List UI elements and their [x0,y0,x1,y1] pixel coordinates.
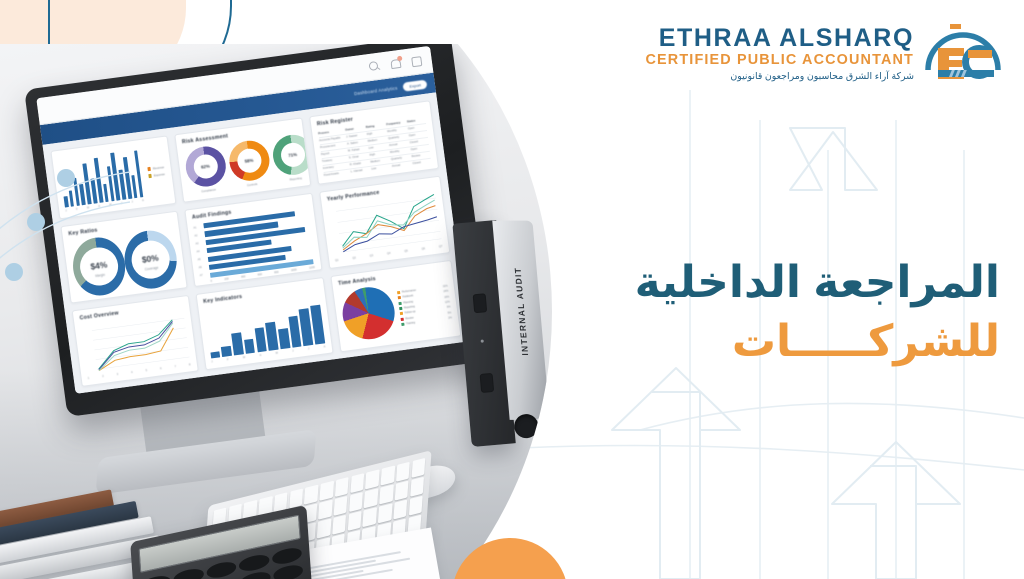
legend-swatch [398,301,401,304]
pie-chart [339,284,397,342]
donut-caption: Reporting [290,176,303,182]
card-key-indicators: Key Indicators JFMA MJJA [195,276,333,370]
legend-swatch [149,174,153,178]
legend-swatch [400,318,403,321]
headline-line-2: للشركـــــات [635,317,1000,366]
banner-root: Dashboard Analytics Export [0,0,1024,579]
navbar-action-button[interactable]: Export [403,79,428,91]
pie-wrap: Performance 32% Fieldwork 24% [339,276,453,342]
legend-value: 24% [443,290,448,294]
donut-cell: 71% Reporting [270,132,311,183]
binder-spine-label: INTERNAL AUDIT [511,250,532,372]
notification-badge [397,55,403,61]
donut-value: 62% [201,164,210,170]
legend-label: Expense [154,172,165,177]
table-cell: Fixed Assets [324,171,349,177]
navbar-user-label: Dashboard Analytics [354,85,398,96]
axis-tick: A3 [195,242,204,246]
donut-chart: 62% [183,144,228,189]
axis-tick: A5 [198,257,207,261]
card-risk-assessment: Risk Assessment 62% Compliance [174,117,311,202]
legend-value: 16% [444,295,449,299]
notification-bell-icon[interactable] [389,57,401,69]
dots-and-arcs-decoration [0,150,130,380]
legend-swatch [397,291,400,294]
table-cell: L. Hamad [351,168,370,173]
table-cell: Annual [392,162,411,167]
axis-tick: 200 [224,278,229,282]
card-risk-register-table: Risk Register Process Owner Rating Frequ… [309,100,439,185]
legend-value: 5% [447,311,451,314]
legend-swatch [399,307,402,310]
donut-value: 58% [244,158,253,164]
donut-cell: 58% Controls [227,138,273,189]
axis-tick: 1200 [309,266,315,270]
axis-tick: 800 [274,271,279,275]
donut-chart: 58% [227,138,272,183]
binder-hole [473,293,488,313]
binder-hole [480,373,495,393]
legend-value: 12% [445,300,450,304]
axis-tick: A7 [200,273,209,277]
table-cell: Closed [412,160,431,165]
table-cell: Low [371,165,390,170]
data-table: Process Owner Rating Frequency Status Ac… [318,117,431,177]
logo-emblem-icon [922,20,1004,86]
logo-text-block: ETHRAA ALSHARQ CERTIFIED PUBLIC ACCOUNTA… [646,26,914,81]
axis-tick: 1000 [291,269,297,273]
legend-value: 2% [448,316,452,319]
legend-swatch [400,312,403,315]
axis-tick: 600 [258,273,263,277]
logo-tagline-english: CERTIFIED PUBLIC ACCOUNTANT [646,53,914,67]
axis-tick: A6 [199,265,208,269]
axis-tick: 400 [241,276,246,280]
card-audit-findings: Audit Findings A1 A2 A3 A4 A5 A6 A7 [184,193,322,287]
legend-value: 32% [443,284,448,288]
gauge-value: $0% [141,252,159,264]
legend-value: 9% [447,306,451,309]
donut-chart: 71% [270,132,311,177]
donut-caption: Compliance [201,187,216,193]
donut-caption: Controls [247,182,258,187]
legend-item: Expense [149,172,166,178]
headline-line-1: المراجعة الداخلية [635,258,1000,307]
company-logo[interactable]: ETHRAA ALSHARQ CERTIFIED PUBLIC ACCOUNTA… [646,20,1004,86]
headline-block: المراجعة الداخلية للشركـــــات [635,258,1000,367]
column-chart-legend: Revenue Expense [141,142,169,201]
search-icon[interactable] [368,60,380,72]
axis-tick: A4 [196,249,205,253]
logo-name-english: ETHRAA ALSHARQ [646,26,914,51]
pie-legend: Performance 32% Fieldwork 24% [397,284,452,326]
card-yearly-performance: Yearly Performance [319,176,450,269]
axis-tick: 0 [211,280,213,283]
axis-tick: A2 [194,234,203,238]
gauge-caption: Coverage [144,266,158,272]
legend-swatch [397,296,400,299]
legend-swatch [401,323,404,326]
donut-row: 62% Compliance 58% Controls [183,134,303,195]
card-time-analysis: Time Analysis Performance 32% [330,259,461,352]
axis-tick: A1 [193,226,202,230]
legend-item: Revenue [148,165,165,171]
logo-name-arabic: شركة آراء الشرق محاسبون ومراجعون قانونيو… [646,71,914,80]
donut-cell: 62% Compliance [183,144,229,195]
legend-swatch [148,167,152,171]
legend-label: Revenue [153,165,165,170]
donut-value: 71% [288,152,297,158]
apps-grid-icon[interactable] [410,55,422,67]
binder-rivet [481,340,484,343]
